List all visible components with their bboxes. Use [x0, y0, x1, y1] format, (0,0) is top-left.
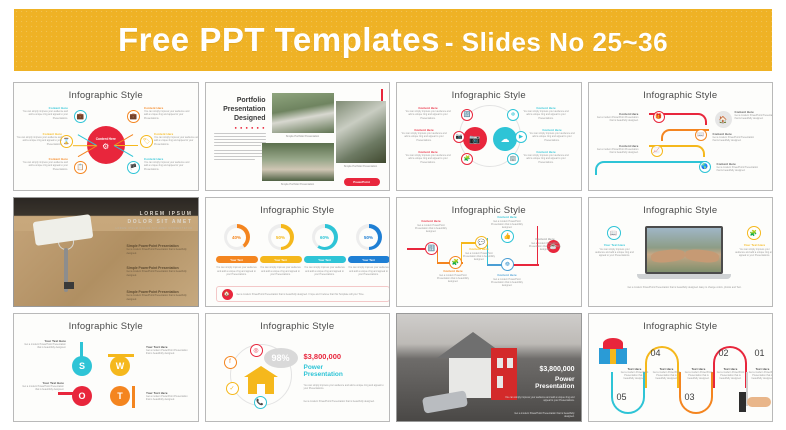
handshake-icon — [739, 392, 774, 412]
step-text-block: Content Here Get a modern PowerPoint Pre… — [595, 145, 639, 155]
price-value: $3,800,000 — [505, 366, 575, 373]
node-text-block: Content Here You can simply impress your… — [144, 107, 190, 120]
slide-8-footer: Get a modern PowerPoint Presentation tha… — [605, 286, 765, 289]
step-text-block: Content Here Get a modern PowerPoint Pre… — [717, 163, 759, 173]
slide-3-title: Infographic Style — [397, 90, 581, 101]
node-text-block: Content Here You can simply impress your… — [22, 158, 68, 171]
swot-circle-o[interactable]: O — [72, 386, 92, 406]
home-icon[interactable]: 🏠 — [715, 111, 732, 128]
photo-caption: Simple Portfolio Presentation — [336, 165, 386, 168]
step-number-03: 03 — [685, 392, 695, 402]
photo-subline: LOREM IPSUM DOLOR SIT AMET CONSECTETUR — [116, 228, 193, 230]
step-text-block: Content Here Get a modern PowerPoint Pre… — [735, 111, 774, 121]
node-body: You can simply impress your audience and… — [144, 161, 190, 171]
decorative-dots: ● ● ● ● ● ● — [214, 125, 266, 130]
node-body: You can simply impress your audience and… — [144, 110, 190, 120]
node-text-block: Content Here You can simply impress your… — [144, 158, 190, 171]
step-text-block: Content Here Get a modern PowerPoint Pre… — [411, 220, 451, 233]
title-line-2: Presentation — [214, 106, 266, 115]
step-body: Get a modern PowerPoint Presentation tha… — [487, 220, 527, 230]
slide-11-body-1: You can simply impress your audience and… — [505, 396, 575, 402]
slide-10-body-2: Get a modern PowerPoint Presentation tha… — [304, 400, 386, 403]
swot-circle-s[interactable]: S — [72, 356, 92, 376]
step-number-01: 01 — [755, 348, 765, 358]
step-body: Get a modern PowerPoint Presentation tha… — [735, 114, 774, 120]
step-body: Get a modern PowerPoint Presentation tha… — [621, 371, 649, 381]
portfolio-photo-2[interactable] — [262, 143, 334, 181]
slide-10-body-1: You can simply impress your audience and… — [304, 384, 386, 390]
target-icon[interactable]: ◎ — [250, 344, 263, 357]
swot-body: Get a modern PowerPoint Presentation tha… — [146, 349, 190, 355]
node-body: You can simply impress your audience and… — [22, 110, 68, 120]
donut-value: 40% — [232, 235, 241, 240]
right-body: You can simply impress your audience and… — [735, 248, 774, 258]
node-body: You can simply impress your audience and… — [22, 161, 68, 171]
slide-1-diagram: Content Here ⚙ 💼 ⌛ 📋 💼 🏷 🏴 Content Here — [20, 105, 192, 184]
slide-thumbnail-1[interactable]: Infographic Style Content Here ⚙ 💼 ⌛ 📋 💼… — [13, 82, 199, 191]
left-text-block: Your Text Here You can simply impress yo… — [595, 244, 635, 257]
donut-tag-3: Your Text — [304, 256, 346, 263]
step-body: Get a modern PowerPoint Presentation tha… — [713, 136, 755, 142]
book-icon[interactable]: 📖 — [695, 129, 707, 141]
puzzle-icon[interactable]: 🧩 — [747, 226, 761, 240]
check-icon[interactable]: ✓ — [226, 382, 239, 395]
slide-4-title: Infographic Style — [589, 90, 773, 101]
step-body: Get a modern PowerPoint Presentation tha… — [717, 166, 759, 172]
donut-value: 50% — [364, 235, 373, 240]
photo-text-block: Simple PowerPoint Presentation Get a mod… — [127, 244, 193, 255]
portfolio-photo-1[interactable] — [272, 93, 334, 133]
slide-thumbnail-6[interactable]: Infographic Style 40% 50% 60% 50% Your T… — [205, 197, 391, 306]
step-text-block: Content Here Get a modern PowerPoint Pre… — [433, 270, 473, 283]
step-number-05: 05 — [617, 392, 627, 402]
slide-thumbnail-2[interactable]: Portfolio Presentation Designed ● ● ● ● … — [205, 82, 391, 191]
slide-10-title: Infographic Style — [206, 321, 390, 332]
photo-text-block: Simple PowerPoint Presentation Get a mod… — [127, 290, 193, 301]
step-body: Get a modern PowerPoint Presentation tha… — [595, 148, 639, 154]
power-line-2: Presentation — [304, 371, 343, 379]
swot-text-block: Your Text Here Get a modern PowerPoint P… — [22, 340, 66, 350]
step-text-block: Content Here Get a modern PowerPoint Pre… — [713, 133, 755, 143]
node-text-block: Content Here You can simply impress your… — [401, 129, 447, 142]
photo-text-block: Simple PowerPoint Presentation Get a mod… — [127, 266, 193, 277]
bag-icon[interactable]: 💼 — [127, 110, 140, 123]
slide-thumbnail-3[interactable]: Infographic Style 📷 ☁ 🔢 📷 🧩 ❄ ▶ 🏢 Conten… — [396, 82, 582, 191]
banner-title-sub: - Slides No 25~36 — [445, 27, 668, 57]
snowflake-icon[interactable]: ❄ — [507, 109, 519, 121]
node-body: You can simply impress your audience and… — [401, 132, 447, 142]
tag-icon[interactable]: 🏷 — [140, 135, 153, 148]
step-body: Get a modern PowerPoint Presentation tha… — [717, 371, 745, 381]
slide-9-title: Infographic Style — [14, 321, 198, 332]
cloud-shape: 98% — [264, 348, 298, 368]
step-text-block: Content Here Get a modern PowerPoint Pre… — [459, 248, 499, 261]
node-body: You can simply impress your audience and… — [405, 154, 451, 164]
slide-6-title: Infographic Style — [206, 205, 390, 216]
step-number-02: 02 — [719, 348, 729, 358]
node-text-block: Content Here You can simply impress your… — [405, 107, 451, 120]
spoke-line — [114, 145, 138, 146]
step-body: Get a modern PowerPoint Presentation tha… — [411, 224, 451, 234]
headline-line-1: LOREM IPSUM — [128, 211, 193, 219]
thumbsup-icon[interactable]: 👍 — [501, 230, 514, 243]
globe-icon[interactable]: 🌎 — [699, 161, 711, 173]
clipboard-icon[interactable]: 📋 — [74, 161, 87, 174]
swot-body: Get a modern PowerPoint Presentation tha… — [22, 343, 66, 349]
key-teeth — [64, 282, 74, 289]
step-body: Get a modern PowerPoint Presentation tha… — [595, 116, 639, 122]
swot-text-block: Your Text Here Get a modern PowerPoint P… — [146, 346, 190, 356]
ppt-template-gallery-page: Free PPT Templates - Slides No 25~36 Inf… — [0, 0, 786, 430]
cloud-percentage: 98% — [271, 353, 289, 363]
footer-note-box: 🏠 Get a modern PowerPoint Presentation t… — [216, 286, 390, 302]
step-body: Get a modern PowerPoint Presentation tha… — [749, 371, 774, 381]
page-title: Free PPT Templates - Slides No 25~36 — [118, 21, 668, 59]
briefcase-icon[interactable]: 💼 — [74, 110, 87, 123]
title-line-1: Portfolio — [214, 97, 266, 106]
slide-thumbnail-grid: Infographic Style Content Here ⚙ 💼 ⌛ 📋 💼… — [13, 82, 773, 422]
donut-body-2: You can simply impress your audience and… — [260, 266, 302, 276]
video-icon[interactable]: ▶ — [515, 131, 527, 143]
cloud-icon[interactable]: ☁ — [493, 127, 517, 151]
photo-caption: Simple Portfolio Presentation — [272, 135, 334, 138]
block-body: Get a modern PowerPoint Presentation tha… — [127, 248, 193, 255]
gear-icon: ⚙ — [102, 143, 109, 151]
slide-2-title: Portfolio Presentation Designed — [214, 97, 266, 123]
donut-chart-2: 50% — [268, 224, 294, 250]
donut-chart-1: 40% — [224, 224, 250, 250]
swot-arrow-down — [132, 386, 135, 408]
slide-thumbnail-11[interactable]: $3,800,000 Power Presentation You can si… — [396, 313, 582, 422]
power-presentation-heading: Power Presentation — [505, 376, 575, 392]
node-text-block: Content Here You can simply impress your… — [22, 107, 68, 120]
power-line-1: Power — [505, 376, 575, 384]
swot-text-block: Your Text Here Get a modern PowerPoint P… — [146, 392, 190, 402]
slide-thumbnail-12[interactable]: Infographic Style 04 03 02 01 05 Text He… — [588, 313, 774, 422]
node-text-block: Content Here You can simply impress your… — [523, 151, 569, 164]
handshake-left — [650, 249, 685, 264]
laptop-base — [637, 274, 731, 279]
step-number-04: 04 — [651, 348, 661, 358]
donut-chart-3: 60% — [312, 224, 338, 250]
slide-thumbnail-7[interactable]: Infographic Style 🔢 🧩 💬 👍 ☸ ☕ Content He… — [396, 197, 582, 306]
building-icon[interactable]: 🏢 — [507, 153, 519, 165]
step-text-block: Text Here Get a modern PowerPoint Presen… — [621, 368, 649, 381]
step-text-block: Text Here Get a modern PowerPoint Presen… — [717, 368, 745, 381]
step-text-block: Text Here Get a modern PowerPoint Presen… — [685, 368, 713, 381]
gift-box-icon — [599, 338, 627, 364]
slide-8-title: Infographic Style — [589, 205, 773, 216]
slide-2-body-text — [214, 133, 266, 161]
donut-tag-4: Your Text — [348, 256, 390, 263]
laptop-screen — [645, 226, 723, 274]
slide-1-title: Infographic Style — [14, 90, 198, 101]
node-body: You can simply impress your audience and… — [154, 136, 199, 146]
donut-chart-4: 50% — [356, 224, 382, 250]
step-body: Get a modern PowerPoint Presentation tha… — [459, 252, 499, 262]
model-window — [497, 358, 503, 368]
step-body: Get a modern PowerPoint Presentation tha… — [653, 371, 681, 381]
step-text-block: Text Here Get a modern PowerPoint Presen… — [749, 368, 774, 381]
page-banner: Free PPT Templates - Slides No 25~36 — [14, 9, 772, 71]
swot-circle-t[interactable]: T — [110, 386, 130, 406]
step-body: Get a modern PowerPoint Presentation tha… — [487, 278, 527, 288]
house-icon — [244, 366, 278, 394]
swot-circle-w[interactable]: W — [110, 356, 130, 376]
camera-icon[interactable]: 📷 — [463, 127, 487, 151]
slide-7-title: Infographic Style — [397, 205, 581, 216]
fan-icon[interactable]: ☸ — [501, 258, 514, 271]
node-text-block: Content Here You can simply impress your… — [523, 107, 569, 120]
home-icon: 🏠 — [222, 289, 233, 300]
chart-icon[interactable]: 📈 — [651, 145, 663, 157]
slide-thumbnail-4[interactable]: Infographic Style 🎁 📖 📈 🌎 🏠 Content Here… — [588, 82, 774, 191]
handshake-right — [684, 249, 719, 264]
house-door — [257, 384, 265, 394]
banner-title-main: Free PPT Templates — [118, 21, 440, 58]
donut-tag-2: Your Text — [260, 256, 302, 263]
power-line-1: Power — [304, 364, 343, 372]
facebook-icon[interactable]: f — [224, 356, 237, 369]
calculator-icon[interactable]: 🔢 — [461, 109, 473, 121]
node-body: You can simply impress your audience and… — [405, 110, 451, 120]
donut-body-1: You can simply impress your audience and… — [216, 266, 258, 276]
right-text-block: Your Text Here You can simply impress yo… — [735, 244, 774, 257]
slide-thumbnail-9[interactable]: Infographic Style S W O T Your Text Here… — [13, 313, 199, 422]
node-text-block: Content Here You can simply impress your… — [405, 151, 451, 164]
slide-12-title: Infographic Style — [589, 321, 773, 332]
photo-headline: LOREM IPSUM DOLOR SIT AMET — [128, 211, 193, 226]
block-body: Get a modern PowerPoint Presentation tha… — [127, 294, 193, 301]
flag-icon[interactable]: 🏴 — [127, 161, 140, 174]
swot-body: Get a modern PowerPoint Presentation tha… — [20, 385, 64, 391]
step-body: Get a modern PowerPoint Presentation tha… — [685, 371, 713, 381]
node-body: You can simply impress your audience and… — [523, 110, 569, 120]
footer-note-text: Get a modern PowerPoint Presentation tha… — [237, 293, 365, 296]
slide-11-body-2: Get a modern PowerPoint Presentation tha… — [505, 412, 575, 418]
step-text-block: Content Here Get a modern PowerPoint Pre… — [525, 238, 565, 251]
node-text-block: Content Here You can simply impress your… — [529, 129, 575, 142]
puzzle-icon[interactable]: 🧩 — [461, 153, 473, 165]
phone-icon[interactable]: 📞 — [254, 396, 267, 409]
step-text-block: Content Here Get a modern PowerPoint Pre… — [487, 216, 527, 229]
power-presentation-heading: Power Presentation — [304, 364, 343, 380]
step-body: Get a modern PowerPoint Presentation tha… — [525, 242, 565, 252]
image-icon[interactable]: 📷 — [453, 131, 465, 143]
portfolio-photo-3[interactable] — [336, 101, 386, 163]
donut-body-3: You can simply impress your audience and… — [304, 266, 346, 276]
slide-thumbnail-5[interactable]: LOREM IPSUM DOLOR SIT AMET LOREM IPSUM D… — [13, 197, 199, 306]
step-body: Get a modern PowerPoint Presentation tha… — [433, 274, 473, 284]
donut-value: 60% — [320, 235, 329, 240]
house-roof — [244, 366, 278, 377]
left-body: You can simply impress your audience and… — [595, 248, 635, 258]
headline-line-2: DOLOR SIT AMET — [128, 219, 193, 227]
node-text-block: Content Here You can simply impress your… — [16, 133, 62, 146]
zigzag-path-4 — [595, 161, 707, 175]
title-line-3: Designed — [214, 115, 266, 124]
gift-icon[interactable]: 🎁 — [653, 111, 665, 123]
node-body: You can simply impress your audience and… — [16, 136, 62, 146]
model-red-wall — [491, 348, 517, 400]
donut-body-4: You can simply impress your audience and… — [348, 266, 390, 276]
model-door — [497, 376, 503, 388]
swot-text-block: Your Text Here Get a modern PowerPoint P… — [20, 382, 64, 392]
node-body: You can simply impress your audience and… — [529, 132, 575, 142]
photo-caption: Simple Portfolio Presentation — [262, 183, 334, 186]
step-text-block: Text Here Get a modern PowerPoint Presen… — [653, 368, 681, 381]
book-icon[interactable]: 📖 — [607, 226, 621, 240]
power-line-2: Presentation — [505, 383, 575, 391]
staircase-segment — [407, 248, 425, 249]
swot-body: Get a modern PowerPoint Presentation tha… — [146, 395, 190, 401]
node-text-block: Content Here You can simply impress your… — [154, 133, 199, 146]
slide-thumbnail-10[interactable]: Infographic Style 98% f ◎ ✓ 📞 $3,800,000… — [205, 313, 391, 422]
block-body: Get a modern PowerPoint Presentation tha… — [127, 270, 193, 277]
powerpoint-button[interactable]: PowerPoint — [344, 178, 380, 186]
step-text-block: Content Here Get a modern PowerPoint Pre… — [595, 113, 639, 123]
node-body: You can simply impress your audience and… — [523, 154, 569, 164]
price-value: $3,800,000 — [304, 352, 342, 361]
staircase-segment — [513, 264, 539, 265]
donut-value: 50% — [276, 235, 285, 240]
step-text-block: Content Here Get a modern PowerPoint Pre… — [487, 274, 527, 287]
slide-thumbnail-8[interactable]: Infographic Style 📖 Your Text Here You c… — [588, 197, 774, 306]
donut-tag-1: Your Text — [216, 256, 258, 263]
